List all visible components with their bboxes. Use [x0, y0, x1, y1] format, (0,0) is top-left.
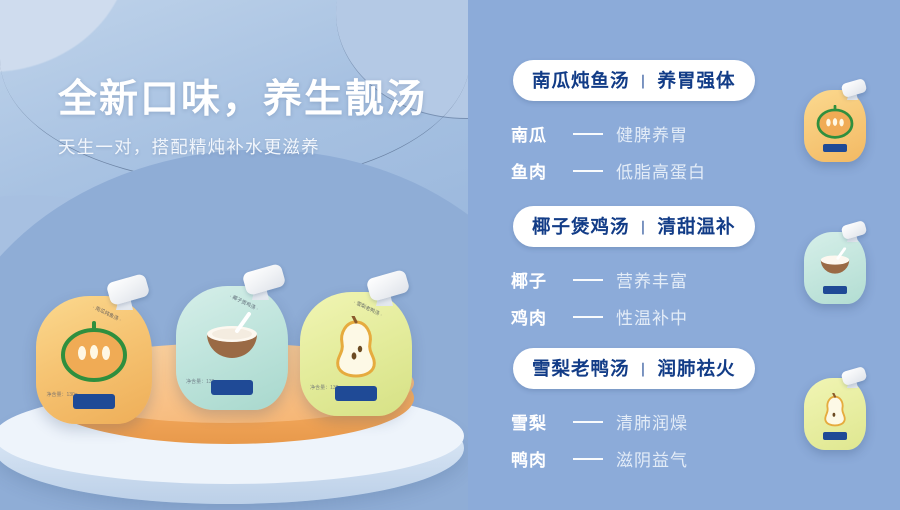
product-pouch-pear: · 雪梨老鸭汤 · 净含量：130g [300, 292, 412, 416]
dash-divider [573, 170, 603, 172]
ingredient-name: 鱼肉 [511, 158, 563, 183]
pouch-cap-icon [841, 78, 868, 98]
product-pouch-pumpkin: · 南瓜炖鱼汤 · 净含量：130g [36, 296, 152, 424]
soup-name: 椰子煲鸡汤 [532, 216, 630, 237]
pouch-body [804, 90, 866, 162]
soup-section-pear: 雪梨老鸭汤丨润肺祛火 雪梨 清肺润燥 鸭肉 滋阴益气 [468, 348, 900, 477]
pouch-cap-icon [841, 220, 868, 240]
ingredient-name: 鸭肉 [511, 446, 563, 471]
product-thumbnail-pear [804, 378, 866, 450]
promo-poster: 全新口味，养生靓汤 天生一对，搭配精炖补水更滋养 · 南瓜炖鱼汤 · 净含量：1… [0, 0, 900, 510]
dash-divider [573, 133, 603, 135]
soup-section-pumpkin: 南瓜炖鱼汤丨养胃强体 南瓜 健脾养胃 鱼肉 低脂高蛋白 [468, 60, 900, 189]
soup-title-badge[interactable]: 南瓜炖鱼汤丨养胃强体 [513, 60, 755, 101]
soup-benefit: 润肺祛火 [658, 358, 736, 379]
badge-separator: 丨 [636, 220, 651, 237]
pumpkin-illustration-icon [58, 321, 130, 383]
ingredient-name: 南瓜 [511, 121, 563, 146]
soup-name: 雪梨老鸭汤 [532, 358, 630, 379]
dash-divider [573, 279, 603, 281]
pouch-brand-label [823, 286, 847, 294]
product-thumbnail-coconut [804, 232, 866, 304]
hero-panel: 全新口味，养生靓汤 天生一对，搭配精炖补水更滋养 · 南瓜炖鱼汤 · 净含量：1… [0, 0, 468, 510]
soup-name: 南瓜炖鱼汤 [532, 70, 630, 91]
ingredient-benefit: 营养丰富 [616, 267, 688, 292]
ingredient-name: 椰子 [511, 267, 563, 292]
pear-illustration-icon [819, 393, 851, 427]
soup-title-badge[interactable]: 椰子煲鸡汤丨清甜温补 [513, 206, 755, 247]
pouch-brand-label [211, 380, 253, 395]
soup-section-coconut: 椰子煲鸡汤丨清甜温补 椰子 营养丰富 鸡肉 性温补中 [468, 206, 900, 335]
pouch-brand-label [335, 386, 377, 401]
ingredient-name: 雪梨 [511, 409, 563, 434]
product-pouch-coconut: · 椰子煲鸡汤 · 净含量：130g [176, 286, 288, 410]
dash-divider [573, 421, 603, 423]
pouch-cap-icon [841, 366, 868, 386]
coconut-illustration-icon [816, 247, 854, 280]
pouch-brand-label [823, 144, 847, 152]
coconut-illustration-icon [199, 312, 265, 370]
hero-text-block: 全新口味，养生靓汤 天生一对，搭配精炖补水更滋养 [58, 78, 458, 159]
soup-benefit: 清甜温补 [658, 216, 736, 237]
pouch-body: · 椰子煲鸡汤 · 净含量：130g [176, 286, 288, 410]
info-panel: 南瓜炖鱼汤丨养胃强体 南瓜 健脾养胃 鱼肉 低脂高蛋白 [468, 0, 900, 510]
soup-title-badge[interactable]: 雪梨老鸭汤丨润肺祛火 [513, 348, 755, 389]
badge-separator: 丨 [636, 74, 651, 91]
pouch-brand-label [823, 432, 847, 440]
product-thumbnail-pumpkin [804, 90, 866, 162]
pouch-body: · 南瓜炖鱼汤 · 净含量：130g [36, 296, 152, 424]
ingredient-benefit: 低脂高蛋白 [616, 158, 706, 183]
dash-divider [573, 458, 603, 460]
pumpkin-illustration-icon [815, 105, 855, 139]
page-subtitle: 天生一对，搭配精炖补水更滋养 [58, 134, 458, 159]
pouch-body [804, 232, 866, 304]
soup-benefit: 养胃强体 [658, 70, 736, 91]
ingredient-benefit: 性温补中 [616, 304, 688, 329]
ingredient-benefit: 健脾养胃 [616, 121, 688, 146]
ingredient-benefit: 滋阴益气 [616, 446, 688, 471]
ingredient-name: 鸡肉 [511, 304, 563, 329]
pouch-brand-label [73, 394, 115, 409]
badge-separator: 丨 [636, 362, 651, 379]
pouch-body [804, 378, 866, 450]
pouch-body: · 雪梨老鸭汤 · 净含量：130g [300, 292, 412, 416]
page-title: 全新口味，养生靓汤 [58, 78, 458, 122]
pear-illustration-icon [326, 316, 386, 378]
dash-divider [573, 316, 603, 318]
ingredient-benefit: 清肺润燥 [616, 409, 688, 434]
